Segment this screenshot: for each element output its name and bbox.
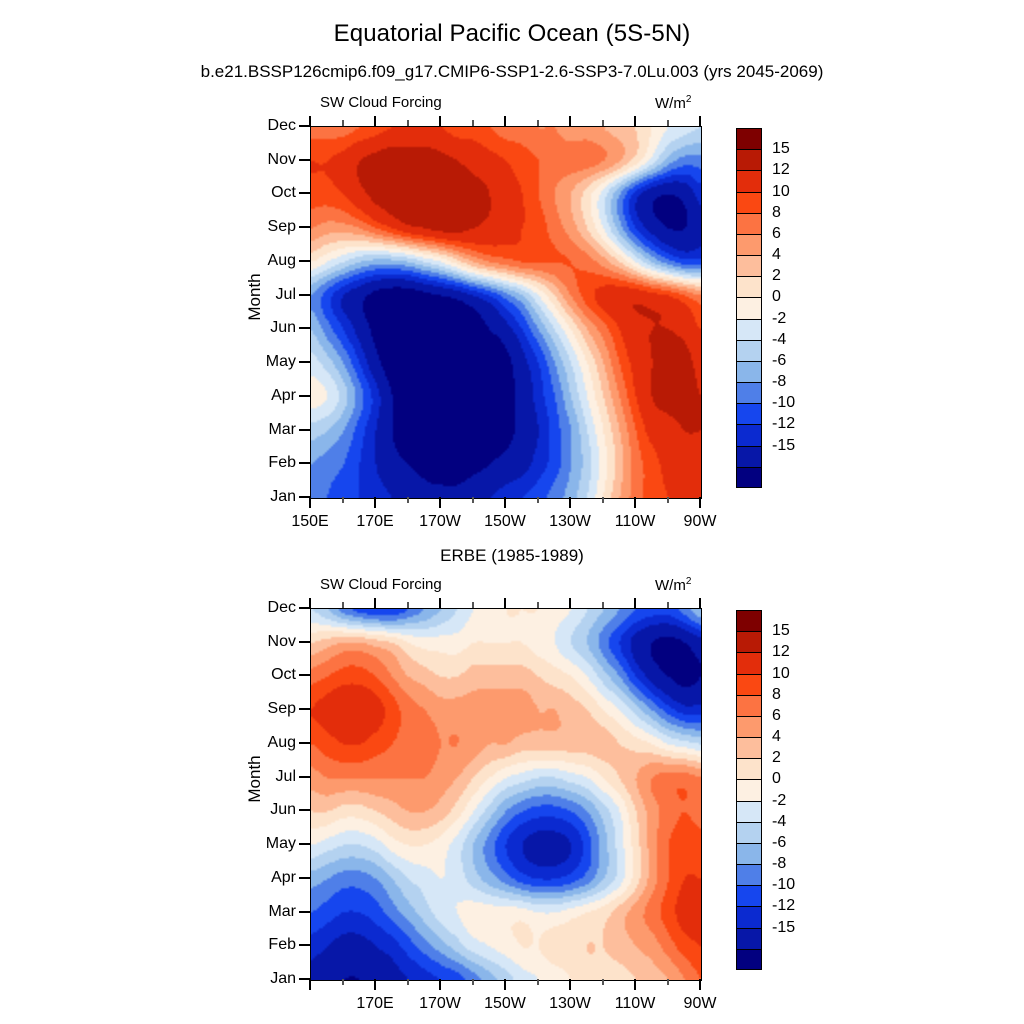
- x-tick-minor: [472, 602, 474, 608]
- colorbar-tick-label: 12: [772, 161, 790, 179]
- y-tick-mark: [299, 429, 310, 431]
- x-tick-minor: [407, 979, 409, 985]
- x-tick-mark-top: [309, 598, 311, 608]
- colorbar-tick-label: 4: [772, 728, 781, 746]
- x-tick-mark-top: [439, 598, 441, 608]
- x-tick-mark: [569, 497, 571, 508]
- colorbar-band: [736, 297, 762, 318]
- y-tick-mark: [299, 226, 310, 228]
- colorbar-top: [736, 128, 762, 488]
- colorbar-tick-label: 8: [772, 204, 781, 222]
- colorbar-band: [736, 149, 762, 170]
- colorbar-tick-label: -2: [772, 792, 786, 810]
- colorbar-band: [736, 213, 762, 234]
- y-tick-label: Feb: [232, 454, 296, 472]
- colorbar-tick-label: 2: [772, 267, 781, 285]
- x-tick-minor: [472, 497, 474, 503]
- colorbar-band: [736, 737, 762, 758]
- colorbar-tick-label: 12: [772, 643, 790, 661]
- colorbar-band: [736, 361, 762, 382]
- x-tick-mark: [374, 497, 376, 508]
- x-tick-minor: [342, 120, 344, 126]
- x-tick-minor: [407, 497, 409, 503]
- colorbar-band: [736, 652, 762, 673]
- colorbar-band: [736, 424, 762, 445]
- colorbar-tick-label: 10: [772, 665, 790, 683]
- y-tick-label: Feb: [232, 936, 296, 954]
- x-tick-mark: [374, 979, 376, 990]
- colorbar-tick-label: -10: [772, 394, 795, 412]
- panel-header-left-top: SW Cloud Forcing: [320, 94, 442, 111]
- panel-header-units-top: W/m2: [655, 94, 691, 112]
- y-tick-mark: [299, 877, 310, 879]
- colorbar-band: [736, 779, 762, 800]
- colorbar-band: [736, 170, 762, 191]
- x-tick-label: 90W: [684, 995, 717, 1013]
- x-tick-minor: [537, 120, 539, 126]
- x-tick-label: 110W: [615, 995, 656, 1013]
- x-tick-label: 170W: [419, 995, 461, 1013]
- colorbar-band: [736, 319, 762, 340]
- y-tick-label: Jun: [232, 319, 296, 337]
- x-tick-mark: [634, 979, 636, 990]
- x-tick-minor: [537, 979, 539, 985]
- y-tick-label: Apr: [232, 387, 296, 405]
- y-tick-mark: [299, 327, 310, 329]
- x-tick-mark-top: [634, 116, 636, 126]
- x-tick-mark: [504, 979, 506, 990]
- colorbar-tick-label: 15: [772, 622, 790, 640]
- y-tick-mark: [299, 776, 310, 778]
- x-tick-minor: [667, 497, 669, 503]
- x-tick-mark-top: [309, 116, 311, 126]
- colorbar-tick-label: -2: [772, 310, 786, 328]
- colorbar-band: [736, 758, 762, 779]
- x-tick-mark-top: [504, 116, 506, 126]
- y-tick-mark: [299, 944, 310, 946]
- colorbar-tick-label: 10: [772, 183, 790, 201]
- colorbar-tick-label: -12: [772, 415, 795, 433]
- figure-root: Equatorial Pacific Ocean (5S-5N) b.e21.B…: [0, 0, 1024, 1024]
- colorbar-tick-label: 2: [772, 749, 781, 767]
- x-tick-label: 150W: [484, 995, 526, 1013]
- x-tick-label: 130W: [549, 513, 591, 531]
- x-tick-mark-top: [439, 116, 441, 126]
- colorbar-tick-label: 15: [772, 140, 790, 158]
- colorbar-band: [736, 949, 762, 970]
- y-tick-mark: [299, 159, 310, 161]
- y-tick-label: Mar: [232, 903, 296, 921]
- y-tick-label: Jan: [232, 970, 296, 988]
- contour-plot-erbe: [310, 608, 702, 981]
- y-tick-label: May: [232, 835, 296, 853]
- units-exponent: 2: [686, 576, 692, 587]
- x-tick-minor: [472, 120, 474, 126]
- x-tick-mark-top: [634, 598, 636, 608]
- x-tick-label: 110W: [615, 513, 656, 531]
- colorbar-band: [736, 906, 762, 927]
- colorbar-band: [736, 192, 762, 213]
- colorbar-band: [736, 822, 762, 843]
- colorbar-tick-label: -6: [772, 834, 786, 852]
- y-tick-mark: [299, 708, 310, 710]
- x-tick-label: 170E: [356, 513, 393, 531]
- units-text: W/m: [655, 577, 686, 594]
- colorbar-tick-label: -4: [772, 813, 786, 831]
- colorbar-tick-label: 8: [772, 686, 781, 704]
- y-tick-label: Sep: [232, 218, 296, 236]
- colorbar-tick-label: -4: [772, 331, 786, 349]
- x-tick-label: 170E: [356, 995, 393, 1013]
- x-tick-mark: [439, 979, 441, 990]
- y-tick-mark: [299, 462, 310, 464]
- y-tick-label: Jul: [232, 768, 296, 786]
- colorbar-band: [736, 843, 762, 864]
- y-tick-label: May: [232, 353, 296, 371]
- x-tick-mark: [699, 497, 701, 508]
- x-tick-minor: [602, 979, 604, 985]
- x-tick-mark-top: [699, 116, 701, 126]
- colorbar-tick-label: -10: [772, 876, 795, 894]
- units-text: W/m: [655, 95, 686, 112]
- colorbar-band: [736, 674, 762, 695]
- panel-header-units-bottom: W/m2: [655, 576, 691, 594]
- x-tick-mark-top: [569, 598, 571, 608]
- colorbar-band: [736, 255, 762, 276]
- colorbar-band: [736, 885, 762, 906]
- colorbar-tick-label: -6: [772, 352, 786, 370]
- panel-header-left-bottom: SW Cloud Forcing: [320, 576, 442, 593]
- colorbar-tick-label: 0: [772, 288, 781, 306]
- colorbar-band: [736, 403, 762, 424]
- x-tick-minor: [537, 497, 539, 503]
- colorbar-band: [736, 340, 762, 361]
- x-tick-label: 130W: [549, 995, 591, 1013]
- y-tick-label: Oct: [232, 184, 296, 202]
- x-tick-mark-top: [504, 598, 506, 608]
- colorbar-tick-label: 0: [772, 770, 781, 788]
- x-tick-mark: [569, 979, 571, 990]
- y-tick-mark: [299, 674, 310, 676]
- contour-plot-model: [310, 126, 702, 499]
- y-tick-mark: [299, 742, 310, 744]
- y-tick-mark: [299, 395, 310, 397]
- x-tick-mark: [504, 497, 506, 508]
- y-tick-mark: [299, 192, 310, 194]
- colorbar-band: [736, 631, 762, 652]
- x-tick-label: 150W: [484, 513, 526, 531]
- y-tick-label: Apr: [232, 869, 296, 887]
- y-tick-mark: [299, 260, 310, 262]
- x-tick-minor: [667, 120, 669, 126]
- contour-field: [311, 127, 701, 498]
- x-tick-mark: [439, 497, 441, 508]
- y-tick-mark: [299, 911, 310, 913]
- colorbar-tick-label: -15: [772, 919, 795, 937]
- y-tick-mark: [299, 361, 310, 363]
- colorbar-band: [736, 467, 762, 488]
- colorbar-tick-label: -8: [772, 373, 786, 391]
- x-tick-minor: [602, 602, 604, 608]
- colorbar-band: [736, 695, 762, 716]
- y-tick-label: Jun: [232, 801, 296, 819]
- top-panel-title: b.e21.BSSP126cmip6.f09_g17.CMIP6-SSP1-2.…: [0, 62, 1024, 82]
- y-tick-label: Jul: [232, 286, 296, 304]
- colorbar-band: [736, 864, 762, 885]
- y-tick-label: Nov: [232, 633, 296, 651]
- x-tick-minor: [342, 497, 344, 503]
- colorbar-tick-label: 6: [772, 707, 781, 725]
- colorbar-band: [736, 446, 762, 467]
- y-tick-label: Jan: [232, 488, 296, 506]
- x-tick-minor: [602, 120, 604, 126]
- colorbar-tick-label: -12: [772, 897, 795, 915]
- y-tick-label: Aug: [232, 734, 296, 752]
- colorbar-band: [736, 716, 762, 737]
- x-tick-minor: [407, 120, 409, 126]
- colorbar-band: [736, 801, 762, 822]
- y-tick-label: Sep: [232, 700, 296, 718]
- x-tick-label: 90W: [684, 513, 717, 531]
- bottom-panel-title: ERBE (1985-1989): [0, 546, 1024, 566]
- colorbar-band: [736, 382, 762, 403]
- colorbar-band: [736, 276, 762, 297]
- x-tick-mark-top: [699, 598, 701, 608]
- x-tick-minor: [407, 602, 409, 608]
- x-tick-label: 150E: [291, 513, 328, 531]
- x-tick-mark-top: [374, 116, 376, 126]
- y-tick-label: Mar: [232, 421, 296, 439]
- colorbar-band: [736, 610, 762, 631]
- y-tick-label: Aug: [232, 252, 296, 270]
- colorbar-tick-label: 4: [772, 246, 781, 264]
- y-tick-mark: [299, 641, 310, 643]
- colorbar-bottom: [736, 610, 762, 970]
- x-tick-minor: [667, 979, 669, 985]
- x-tick-mark-top: [374, 598, 376, 608]
- x-tick-minor: [472, 979, 474, 985]
- y-tick-label: Dec: [232, 117, 296, 135]
- y-tick-mark: [299, 294, 310, 296]
- contour-field: [311, 609, 701, 980]
- x-tick-mark: [309, 979, 311, 990]
- units-exponent: 2: [686, 94, 692, 105]
- colorbar-band: [736, 128, 762, 149]
- y-tick-mark: [299, 809, 310, 811]
- x-tick-mark: [309, 497, 311, 508]
- x-tick-minor: [667, 602, 669, 608]
- colorbar-tick-label: -15: [772, 437, 795, 455]
- y-tick-label: Nov: [232, 151, 296, 169]
- x-tick-minor: [342, 979, 344, 985]
- colorbar-band: [736, 928, 762, 949]
- y-tick-label: Oct: [232, 666, 296, 684]
- x-tick-minor: [342, 602, 344, 608]
- colorbar-tick-label: 6: [772, 225, 781, 243]
- colorbar-tick-label: -8: [772, 855, 786, 873]
- x-tick-mark: [634, 497, 636, 508]
- x-tick-minor: [602, 497, 604, 503]
- x-tick-mark: [699, 979, 701, 990]
- figure-title: Equatorial Pacific Ocean (5S-5N): [0, 20, 1024, 48]
- colorbar-band: [736, 234, 762, 255]
- x-tick-minor: [537, 602, 539, 608]
- y-tick-label: Dec: [232, 599, 296, 617]
- x-tick-label: 170W: [419, 513, 461, 531]
- x-tick-mark-top: [569, 116, 571, 126]
- y-tick-mark: [299, 843, 310, 845]
